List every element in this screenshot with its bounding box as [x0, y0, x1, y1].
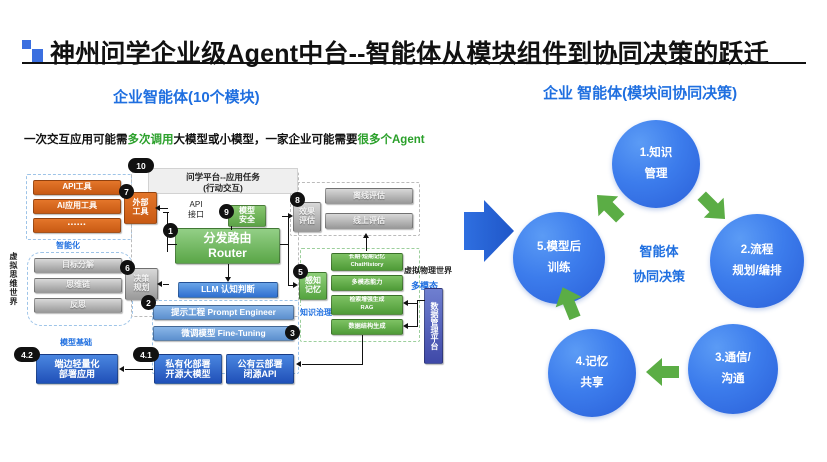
- model-security-line-2: 安全: [239, 216, 255, 225]
- node-knowledge-line-1: 1.知识: [640, 143, 673, 164]
- api-label-line-2: 接口: [188, 210, 204, 220]
- lead-part-1: 一次交互应用可能需: [24, 134, 128, 146]
- conn-dp-struct: [408, 326, 418, 327]
- lead-sentence: 一次交互应用可能需多次调用大模型或小模型，一家企业可能需要很多个Agent: [24, 131, 484, 147]
- external-tools-line-2: 工具: [133, 208, 149, 217]
- private-deploy-box[interactable]: 私有化部署 开源大模型: [154, 354, 222, 384]
- public-deploy-line-2: 闭源API: [243, 369, 276, 379]
- memory-item-0-line-1: 长期·短期记忆: [349, 254, 386, 262]
- node-knowledge-line-2: 管理: [645, 164, 668, 185]
- node-communication-line-2: 沟通: [722, 369, 745, 390]
- conn-deploy-h: [125, 369, 153, 370]
- node-communication-line-1: 3.通信/: [715, 348, 751, 369]
- square-logo-icon: [22, 40, 42, 62]
- title-bar: 神州问学企业级Agent中台--智能体从模块组件到协同决策的跃迁: [0, 14, 827, 62]
- finetune-box[interactable]: 微调模型 Fine-Tuning: [153, 326, 294, 341]
- slide-root: 神州问学企业级Agent中台--智能体从模块组件到协同决策的跃迁 企业智能体(1…: [0, 0, 827, 462]
- arrow-to-decision-planning: [157, 281, 162, 287]
- thinking-item-1[interactable]: 思维链: [34, 278, 122, 293]
- edge-deploy-line-2: 部署应用: [59, 369, 95, 379]
- arrow-to-evaluation: [288, 213, 293, 219]
- public-deploy-box[interactable]: 公有云部署 闭源API: [226, 354, 294, 384]
- cycle-center-line-2: 协同决策: [613, 265, 705, 290]
- memory-item-2-line-1: 检索增强生成: [350, 297, 385, 305]
- lead-part-2: 大模型或小模型，一家企业可能需要: [174, 134, 358, 146]
- cycle-center-caption: 智能体 协同决策: [613, 240, 705, 289]
- arrow-dp-to-rag: [403, 300, 408, 306]
- llm-box[interactable]: LLM 认知判断: [178, 282, 278, 298]
- conn-security-router: [231, 226, 232, 230]
- router-line-2: Router: [208, 246, 247, 261]
- conn-dp-rag: [408, 303, 418, 304]
- prompt-engineer-box[interactable]: 提示工程 Prompt Engineer: [153, 305, 294, 320]
- api-interface-label: API 接口: [188, 200, 204, 220]
- node-communication[interactable]: 3.通信/ 沟通: [688, 324, 778, 414]
- blue-chevron-arrow-icon: [462, 198, 518, 269]
- badge-10: 10: [128, 158, 154, 173]
- arrow-dp-to-struct: [403, 323, 408, 329]
- evaluation-hub-line-2: 评估: [299, 217, 315, 226]
- badge-8: 8: [290, 192, 305, 207]
- public-deploy-line-1: 公有云部署: [237, 359, 282, 369]
- memory-item-0-line-2: ChatHistory: [351, 262, 384, 270]
- tool-item-0[interactable]: API工具: [33, 180, 121, 195]
- private-deploy-line-1: 私有化部署: [165, 359, 210, 369]
- conn-right-bus: [288, 216, 289, 286]
- memory-item-0[interactable]: 长期·短期记忆 ChatHistory: [331, 253, 403, 271]
- decision-planning-line-2: 规划: [134, 284, 150, 293]
- page-title: 神州问学企业级Agent中台--智能体从模块组件到协同决策的跃迁: [50, 34, 810, 70]
- arrow-feedback-left: [296, 361, 301, 367]
- data-platform-box[interactable]: 数据管理平台: [424, 288, 443, 364]
- conn-decision-h: [163, 284, 169, 285]
- memory-item-1[interactable]: 多模态能力: [331, 275, 403, 291]
- edge-deploy-box[interactable]: 端边轻量化 部署应用: [36, 354, 118, 384]
- node-post-training-line-1: 5.模型后: [537, 237, 581, 258]
- memory-item-2[interactable]: 检索增强生成 RAG: [331, 295, 403, 315]
- badge-4-2: 4.2: [14, 347, 40, 362]
- virtual-physical-world-label: 虚拟物理世界: [404, 265, 452, 276]
- conn-memory-up: [366, 236, 367, 251]
- green-arrow-icon-3: [548, 282, 590, 329]
- green-arrow-icon-2: [641, 352, 685, 397]
- arrow-router-to-llm: [225, 277, 231, 282]
- router-box[interactable]: 分发路由 Router: [175, 228, 280, 264]
- lead-highlight-1: 多次调用: [128, 134, 174, 146]
- memory-item-2-line-2: RAG: [361, 305, 374, 313]
- badge-6: 6: [120, 260, 135, 275]
- left-panel-heading: 企业智能体(10个模块): [113, 86, 260, 107]
- node-process-line-2: 规划/编排: [732, 261, 781, 282]
- node-process-line-1: 2.流程: [741, 240, 774, 261]
- conn-router-llm: [228, 264, 229, 278]
- edge-deploy-line-1: 端边轻量化: [54, 359, 99, 369]
- thinking-item-0[interactable]: 目标分解: [34, 258, 122, 273]
- badge-3: 3: [285, 325, 300, 340]
- node-memory[interactable]: 4.记忆 共享: [548, 329, 636, 417]
- right-panel-heading: 企业 智能体(模块间协同决策): [543, 82, 737, 103]
- platform-line-2: (行动交互): [149, 183, 297, 194]
- conn-router-tools-h: [163, 212, 169, 213]
- badge-9: 9: [219, 204, 234, 219]
- badge-2: 2: [141, 295, 156, 310]
- cycle-center-line-1: 智能体: [613, 240, 705, 265]
- conn-feedback-v: [362, 335, 363, 365]
- badge-7: 7: [119, 184, 134, 199]
- data-platform-label: 数据管理平台: [429, 302, 438, 350]
- node-post-training-line-2: 训练: [548, 258, 571, 279]
- evaluation-item-1[interactable]: 线上评估: [325, 213, 413, 229]
- arrow-to-external-tools: [155, 205, 160, 211]
- tool-item-2[interactable]: ▪▪▪▪▪▪: [33, 218, 121, 233]
- badge-5: 5: [293, 264, 308, 279]
- badge-1: 1: [163, 223, 178, 238]
- memory-item-3[interactable]: 数据结构生成: [331, 319, 403, 335]
- intelligence-label: 智能化: [56, 240, 80, 251]
- badge-4-1: 4.1: [133, 347, 159, 362]
- evaluation-item-0[interactable]: 离线评估: [325, 188, 413, 204]
- conn-dp-top: [417, 300, 425, 301]
- green-arrow-icon-0: [588, 186, 630, 233]
- title-underline: [22, 62, 806, 64]
- platform-banner: 问学平台--应用任务 (行动交互): [148, 168, 298, 194]
- green-arrow-icon-1: [692, 186, 734, 233]
- arrow-memory-to-evaluation: [363, 233, 369, 238]
- model-security-box[interactable]: 模型 安全: [228, 205, 266, 227]
- platform-line-1: 问学平台--应用任务: [149, 172, 297, 183]
- memory-hub-line-2: 记忆: [305, 286, 321, 295]
- conn-feedback-h: [302, 364, 363, 365]
- knowledge-gov-label: 知识治理: [299, 306, 333, 319]
- conn-router-left-in: [167, 244, 177, 245]
- router-line-1: 分发路由: [203, 231, 251, 246]
- arrow-to-memory: [293, 282, 298, 288]
- model-base-label: 模型基础: [60, 337, 92, 348]
- tool-item-1[interactable]: AI应用工具: [33, 199, 121, 214]
- lead-highlight-2: 很多个Agent: [358, 134, 425, 146]
- thinking-item-2[interactable]: 反思: [34, 298, 122, 313]
- node-memory-line-1: 4.记忆: [576, 352, 609, 373]
- node-memory-line-2: 共享: [581, 373, 604, 394]
- arrow-private-to-edge: [119, 366, 124, 372]
- conn-tools-arrow-line: [160, 208, 168, 209]
- private-deploy-line-2: 开源大模型: [165, 369, 210, 379]
- api-label-line-1: API: [188, 200, 204, 210]
- virtual-mind-world-label: 虚拟思维世界: [8, 252, 19, 306]
